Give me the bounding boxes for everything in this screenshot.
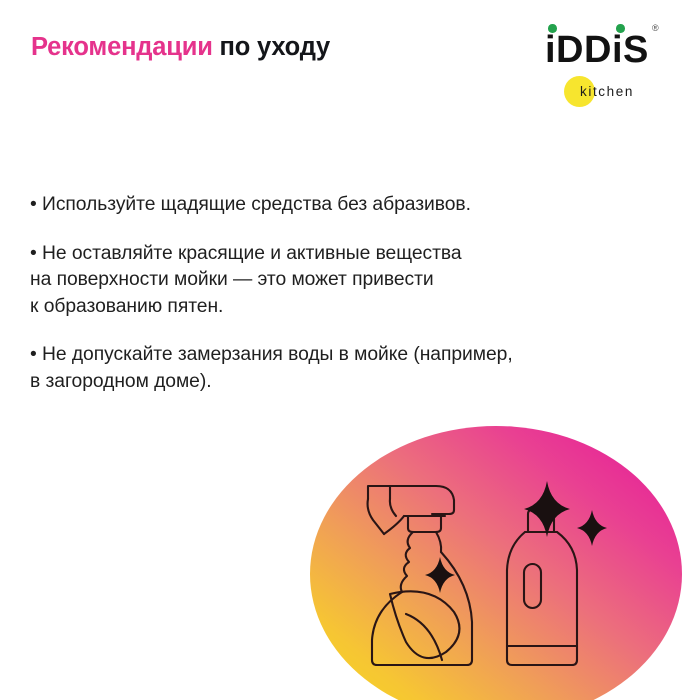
brand-logo: iDDiS ® kitchen	[540, 20, 690, 112]
registered-trademark-icon: ®	[652, 24, 659, 33]
logo-dot-i-second-icon	[616, 24, 625, 33]
list-item: • Не оставляйте красящие и активные веще…	[30, 241, 670, 321]
list-item: • Не допускайте замерзания воды в мойке …	[30, 342, 670, 395]
page-title-accent: Рекомендации	[31, 33, 213, 61]
list-item: • Используйте щадящие средства без абраз…	[30, 192, 670, 219]
logo-dot-i-first-icon	[548, 24, 557, 33]
care-instructions-list: • Используйте щадящие средства без абраз…	[30, 192, 670, 395]
care-recommendations-card: Рекомендации по уходу iDDiS ® kitchen • …	[0, 0, 700, 700]
logo-wordmark: iDDiS	[545, 31, 649, 69]
logo-sub-label-group: kitchen	[564, 76, 634, 108]
illustration-area	[310, 424, 682, 700]
logo-sub-label: kitchen	[580, 85, 634, 99]
cleaning-products-illustration	[310, 424, 682, 700]
gradient-blob	[310, 426, 682, 700]
page-title: Рекомендации по уходу	[31, 33, 330, 62]
page-title-rest: по уходу	[213, 33, 330, 61]
